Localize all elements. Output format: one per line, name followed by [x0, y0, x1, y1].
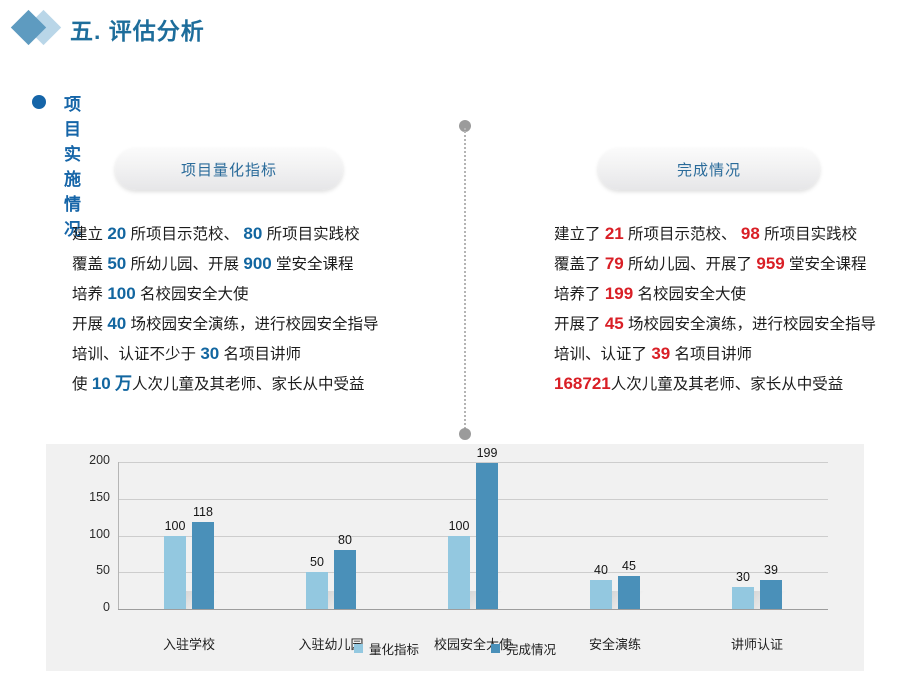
bar-group: 100199校园安全大使: [448, 462, 498, 609]
metric-value: 20: [107, 224, 126, 243]
indicator-line: 覆盖 50 所幼儿园、开展 900 堂安全课程: [72, 249, 379, 279]
completion-line: 培训、认证了 39 名项目讲师: [554, 339, 876, 369]
y-axis-tick: 150: [54, 490, 110, 504]
completion-line: 开展了 45 场校园安全演练，进行校园安全指导: [554, 309, 876, 339]
metric-text: 堂安全课程: [272, 256, 354, 273]
bar-量化指标-校园安全大使[interactable]: [448, 536, 470, 610]
metric-text: 培训、认证不少于: [72, 346, 200, 363]
metric-value: 30: [200, 344, 219, 363]
metric-value: 40: [107, 314, 126, 333]
divider-dot-bottom: [459, 428, 471, 440]
metric-value: 39: [651, 344, 670, 363]
indicator-line: 建立 20 所项目示范校、 80 所项目实践校: [72, 219, 379, 249]
bar-完成情况-入驻幼儿园[interactable]: [334, 550, 356, 609]
metric-text: 建立: [72, 226, 107, 243]
pill-completion-status[interactable]: 完成情况: [598, 148, 820, 190]
metric-text: 所幼儿园、开展了: [624, 256, 757, 273]
indicator-line: 培训、认证不少于 30 名项目讲师: [72, 339, 379, 369]
indicator-line: 使 10 万人次儿童及其老师、家长从中受益: [72, 369, 379, 399]
metric-text: 使: [72, 376, 92, 393]
bar-量化指标-入驻学校[interactable]: [164, 536, 186, 610]
legend-item-完成情况[interactable]: 完成情况: [491, 639, 556, 658]
metric-value: 100: [107, 284, 135, 303]
metric-text: 培养: [72, 286, 107, 303]
metric-text: 名校园安全大使: [633, 286, 746, 303]
y-axis-line: [118, 462, 119, 609]
metric-text: 开展: [72, 316, 107, 333]
chart-legend: 量化指标完成情况: [46, 639, 864, 658]
completion-line: 覆盖了 79 所幼儿园、开展了 959 堂安全课程: [554, 249, 876, 279]
metric-value: 98: [741, 224, 760, 243]
y-axis-tick: 100: [54, 527, 110, 541]
legend-swatch-icon: [354, 644, 363, 653]
metric-text: 名项目讲师: [219, 346, 301, 363]
metric-value: 80: [243, 224, 262, 243]
chart-plot-area: 050100150200100118入驻学校5080入驻幼儿园100199校园安…: [118, 462, 828, 609]
bar-chart-panel: 050100150200100118入驻学校5080入驻幼儿园100199校园安…: [46, 444, 864, 671]
completion-line: 培养了 199 名校园安全大使: [554, 279, 876, 309]
bar-value-label: 100: [155, 519, 195, 533]
y-axis-tick: 200: [54, 453, 110, 467]
legend-label: 完成情况: [506, 639, 556, 658]
metric-value: 168721: [554, 374, 611, 393]
metric-text: 人次儿童及其老师、家长从中受益: [611, 376, 844, 393]
bar-group: 5080入驻幼儿园: [306, 462, 356, 609]
metric-text: 人次儿童及其老师、家长从中受益: [132, 376, 365, 393]
metric-value: 959: [756, 254, 784, 273]
metric-text: 培训、认证了: [554, 346, 651, 363]
gridline-0: [118, 609, 828, 610]
metric-value: 50: [107, 254, 126, 273]
left-text-column: 建立 20 所项目示范校、 80 所项目实践校覆盖 50 所幼儿园、开展 900…: [72, 219, 379, 399]
indicator-line: 开展 40 场校园安全演练，进行校园安全指导: [72, 309, 379, 339]
metric-text: 场校园安全演练，进行校园安全指导: [624, 316, 876, 333]
metric-text: 覆盖: [72, 256, 107, 273]
metric-text: 所项目实践校: [262, 226, 359, 243]
metric-text: 开展了: [554, 316, 605, 333]
divider-line: [464, 128, 466, 432]
metric-text: 所项目示范校、: [126, 226, 243, 243]
bar-完成情况-校园安全大使[interactable]: [476, 463, 498, 609]
metric-text: 名校园安全大使: [136, 286, 249, 303]
bar-量化指标-讲师认证[interactable]: [732, 587, 754, 609]
metric-text: 堂安全课程: [785, 256, 867, 273]
metric-value: 199: [605, 284, 633, 303]
metric-text: 场校园安全演练，进行校园安全指导: [126, 316, 378, 333]
bar-group: 4045安全演练: [590, 462, 640, 609]
bar-量化指标-入驻幼儿园[interactable]: [306, 572, 328, 609]
pill-quantitative-indicators[interactable]: 项目量化指标: [115, 148, 343, 190]
y-axis-tick: 50: [54, 563, 110, 577]
bar-value-label: 45: [609, 559, 649, 573]
metric-value: 900: [243, 254, 271, 273]
metric-text: 建立了: [554, 226, 605, 243]
metric-value: 万: [115, 374, 132, 393]
bullet-dot-icon: [32, 95, 46, 109]
bar-完成情况-讲师认证[interactable]: [760, 580, 782, 609]
bar-value-label: 199: [467, 446, 507, 460]
legend-swatch-icon: [491, 644, 500, 653]
legend-label: 量化指标: [369, 639, 419, 658]
y-axis-tick: 0: [54, 600, 110, 614]
bar-group: 100118入驻学校: [164, 462, 214, 609]
double-diamond-icon: [12, 10, 68, 48]
metric-text: 覆盖了: [554, 256, 605, 273]
metric-value: 10: [92, 374, 111, 393]
bar-完成情况-入驻学校[interactable]: [192, 522, 214, 609]
metric-text: 所幼儿园、开展: [126, 256, 243, 273]
completion-line: 168721人次儿童及其老师、家长从中受益: [554, 369, 876, 399]
indicator-line: 培养 100 名校园安全大使: [72, 279, 379, 309]
bar-完成情况-安全演练[interactable]: [618, 576, 640, 609]
metric-text: 培养了: [554, 286, 605, 303]
page-header: 五. 评估分析: [0, 0, 900, 62]
bar-group: 3039讲师认证: [732, 462, 782, 609]
metric-value: 79: [605, 254, 624, 273]
metric-value: 45: [605, 314, 624, 333]
metric-text: 所项目实践校: [760, 226, 857, 243]
metric-text: 名项目讲师: [670, 346, 752, 363]
legend-item-量化指标[interactable]: 量化指标: [354, 639, 419, 658]
page-title: 五. 评估分析: [70, 12, 205, 46]
vertical-dotted-divider: [458, 120, 472, 440]
bar-value-label: 50: [297, 555, 337, 569]
completion-line: 建立了 21 所项目示范校、 98 所项目实践校: [554, 219, 876, 249]
section-title: 项目实施情况: [64, 90, 82, 240]
metric-value: 21: [605, 224, 624, 243]
bar-value-label: 39: [751, 563, 791, 577]
bar-value-label: 100: [439, 519, 479, 533]
bar-value-label: 118: [183, 505, 223, 519]
right-text-column: 建立了 21 所项目示范校、 98 所项目实践校覆盖了 79 所幼儿园、开展了 …: [554, 219, 876, 399]
bar-value-label: 80: [325, 533, 365, 547]
bar-量化指标-安全演练[interactable]: [590, 580, 612, 609]
metric-text: 所项目示范校、: [624, 226, 741, 243]
